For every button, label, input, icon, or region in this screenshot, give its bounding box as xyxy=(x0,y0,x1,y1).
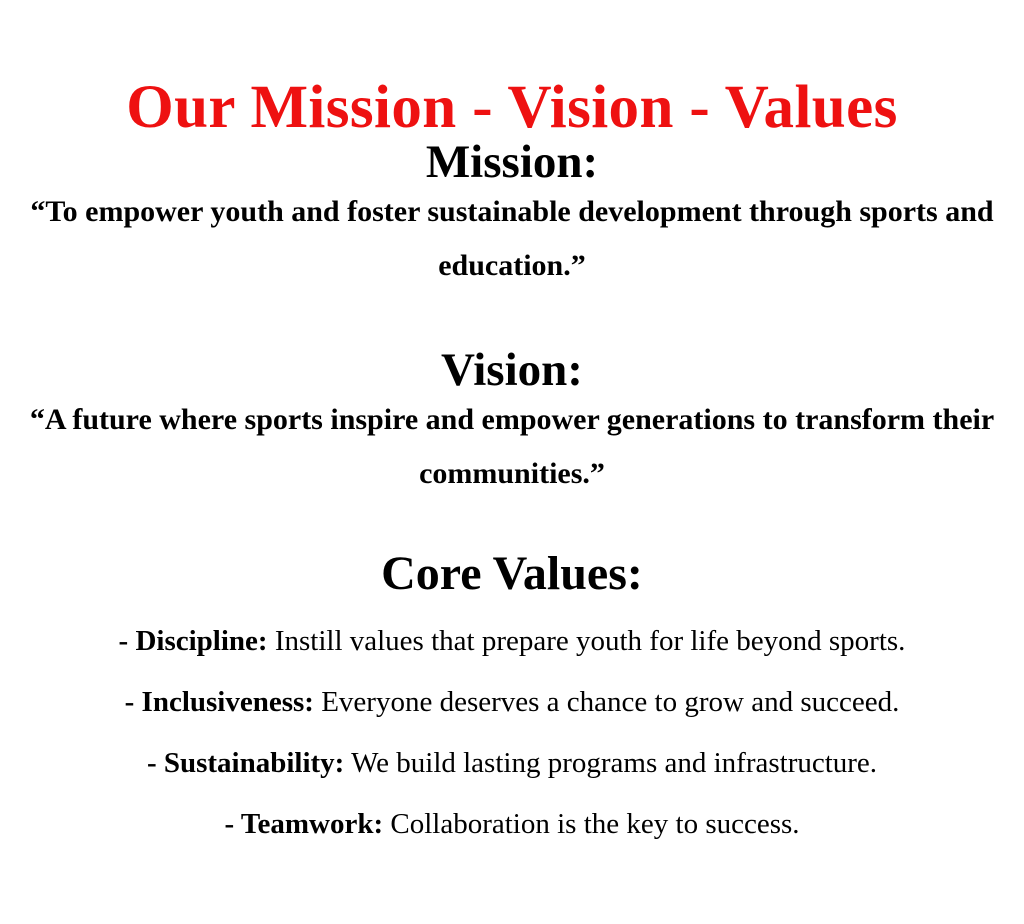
mission-section: Mission: “To empower youth and foster su… xyxy=(0,138,1024,292)
list-item: - Discipline: Instill values that prepar… xyxy=(0,627,1024,656)
value-term: - Sustainability: xyxy=(147,747,344,779)
slide-canvas: Our Mission - Vision - Values Mission: “… xyxy=(0,0,1024,924)
list-item: - Inclusiveness: Everyone deserves a cha… xyxy=(0,688,1024,717)
mission-statement: “To empower youth and foster sustainable… xyxy=(0,185,1024,292)
value-description: Everyone deserves a chance to grow and s… xyxy=(321,686,899,718)
vision-heading: Vision: xyxy=(0,346,1024,395)
value-term: - Inclusiveness: xyxy=(125,686,314,718)
list-item: - Sustainability: We build lasting progr… xyxy=(0,749,1024,778)
value-description: We build lasting programs and infrastruc… xyxy=(351,747,877,779)
vision-statement: “A future where sports inspire and empow… xyxy=(0,393,1024,500)
core-values-section: Core Values: - Discipline: Instill value… xyxy=(0,549,1024,839)
list-item: - Teamwork: Collaboration is the key to … xyxy=(0,810,1024,839)
mission-heading: Mission: xyxy=(0,138,1024,187)
value-term: - Discipline: xyxy=(119,625,268,657)
value-term: - Teamwork: xyxy=(224,808,383,840)
core-values-list: - Discipline: Instill values that prepar… xyxy=(0,627,1024,839)
vision-section: Vision: “A future where sports inspire a… xyxy=(0,346,1024,500)
page-title: Our Mission - Vision - Values xyxy=(0,75,1024,141)
value-description: Collaboration is the key to success. xyxy=(390,808,799,840)
value-description: Instill values that prepare youth for li… xyxy=(275,625,906,657)
core-values-heading: Core Values: xyxy=(0,549,1024,599)
